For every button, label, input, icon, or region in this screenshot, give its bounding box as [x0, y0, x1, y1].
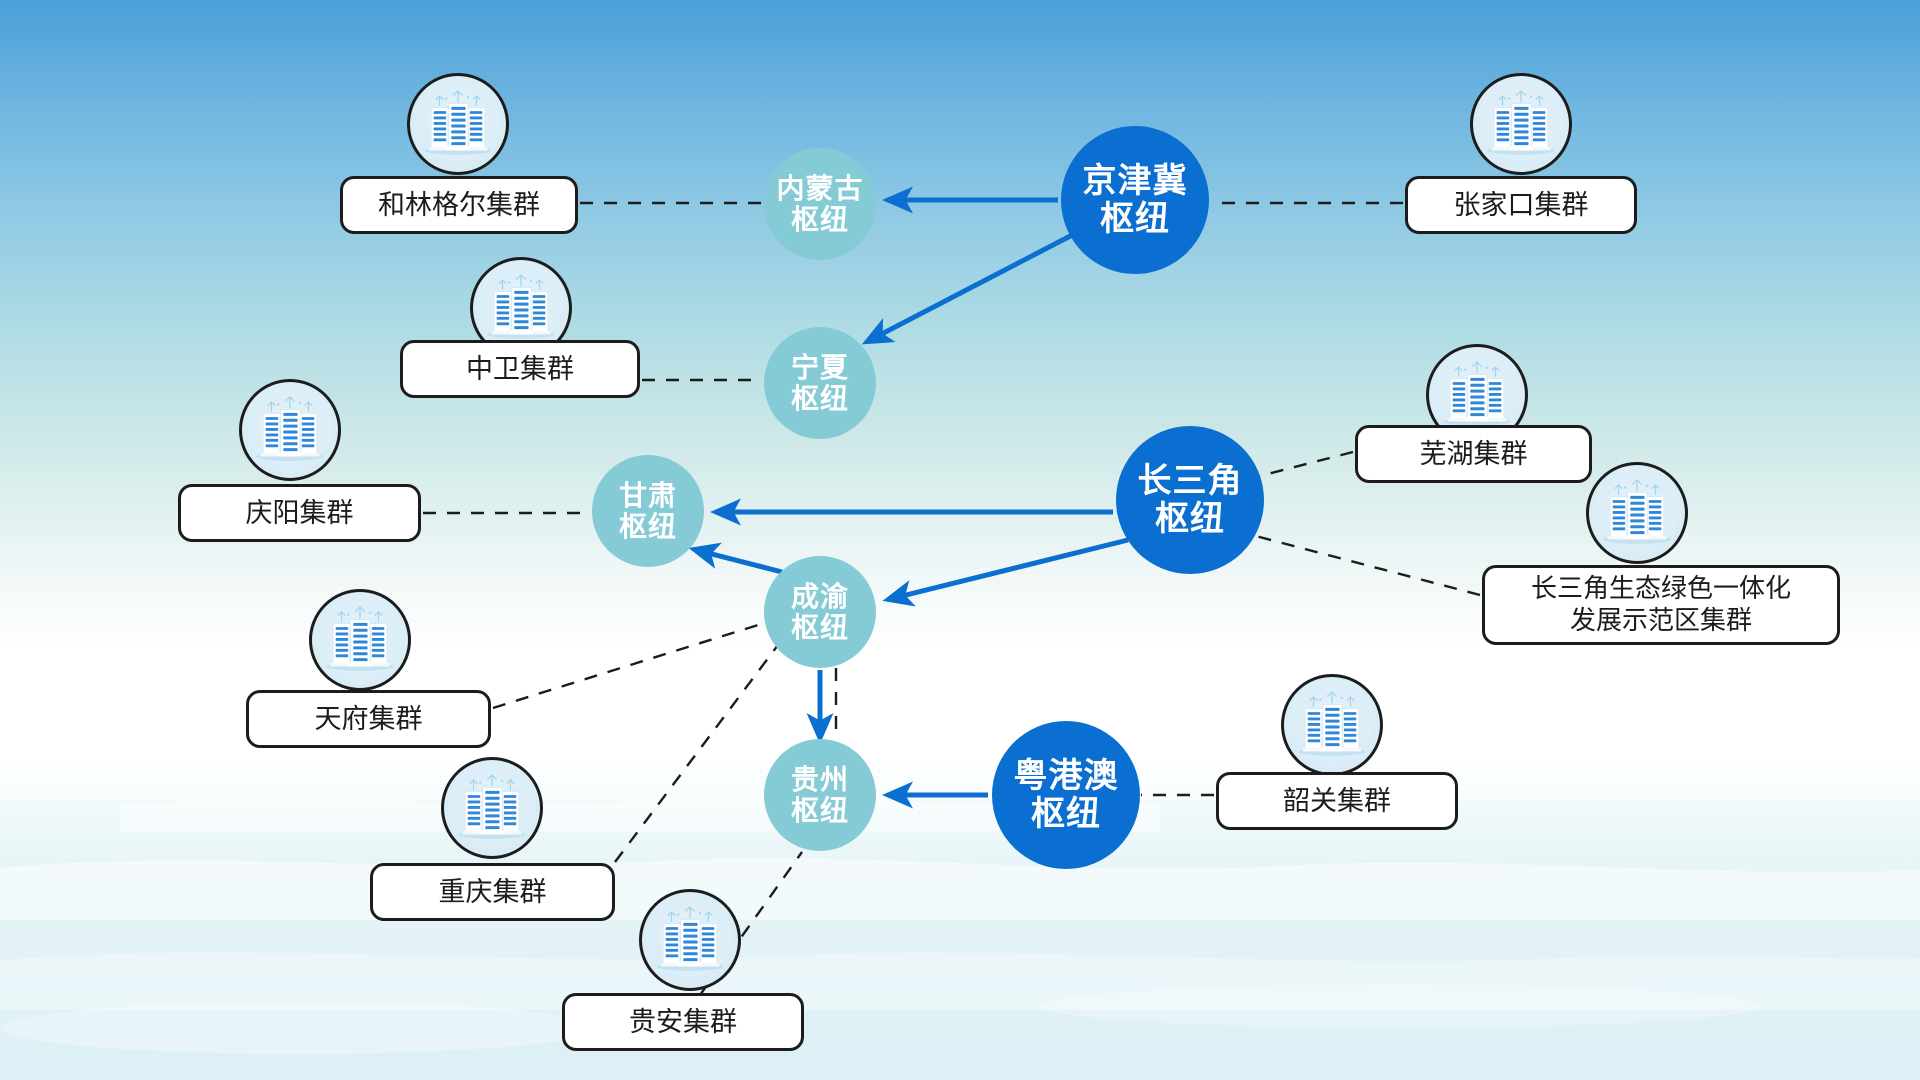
- cluster-label: 张家口集群: [1405, 176, 1637, 234]
- cluster-label: 长三角生态绿色一体化 发展示范区集群: [1482, 565, 1840, 645]
- cluster-icon-bubble: [1281, 674, 1383, 776]
- cluster-icon-wrapper: [416, 80, 500, 164]
- hub-label-line: 枢纽: [791, 204, 849, 235]
- diagram-canvas: 京津冀枢纽长三角枢纽粤港澳枢纽内蒙古枢纽宁夏枢纽甘肃枢纽成渝枢纽贵州枢纽: [0, 0, 1920, 1080]
- cluster-icon-bubble: [639, 889, 741, 991]
- data-center-building-icon: [1595, 469, 1679, 553]
- dashed-link-demozone-changsanjiao: [1248, 534, 1480, 595]
- data-center-building-icon: [318, 596, 402, 680]
- dashed-link-chongqing-chengyu: [615, 645, 778, 862]
- hub-node-yuegangao[interactable]: 粤港澳枢纽: [992, 721, 1140, 869]
- cluster-label: 贵安集群: [562, 993, 804, 1051]
- hub-label-line: 枢纽: [791, 612, 849, 643]
- cluster-label: 和林格尔集群: [340, 176, 578, 234]
- cluster-icon-bubble: [1470, 73, 1572, 175]
- hub-label-line: 枢纽: [791, 383, 849, 414]
- cluster-label: 芜湖集群: [1355, 425, 1592, 483]
- hub-label-line: 枢纽: [1031, 795, 1101, 833]
- hub-node-changsanjiao[interactable]: 长三角枢纽: [1116, 426, 1264, 574]
- arrow-changsanjiao-to-chengyu: [898, 540, 1128, 597]
- data-center-building-icon: [648, 896, 732, 980]
- cluster-label: 庆阳集群: [178, 484, 421, 542]
- cluster-icon-wrapper: [1435, 351, 1519, 435]
- hub-label-line: 甘肃: [619, 480, 677, 511]
- cluster-label: 韶关集群: [1216, 772, 1458, 830]
- arrow-jingjinji-to-ningxia: [876, 232, 1078, 337]
- cluster-icon-wrapper: [1290, 681, 1374, 765]
- data-center-building-icon: [1479, 80, 1563, 164]
- hub-label-line: 长三角: [1138, 462, 1243, 500]
- data-center-building-icon: [248, 386, 332, 470]
- hub-label-line: 粤港澳: [1014, 757, 1119, 795]
- hub-node-jingjinji[interactable]: 京津冀枢纽: [1061, 126, 1209, 274]
- data-center-building-icon: [1435, 351, 1519, 435]
- hub-label-line: 内蒙古: [776, 173, 863, 204]
- cluster-icon-bubble: [441, 757, 543, 859]
- cluster-icon-wrapper: [318, 596, 402, 680]
- hub-node-chengyu[interactable]: 成渝枢纽: [764, 556, 876, 668]
- cluster-icon-wrapper: [1479, 80, 1563, 164]
- dashed-link-tianfu-chengyu: [493, 620, 774, 708]
- cluster-icon-wrapper: [479, 264, 563, 348]
- hub-label-line: 枢纽: [1155, 500, 1225, 538]
- arrow-chengyu-to-gansu: [704, 552, 782, 572]
- cluster-label: 重庆集群: [370, 863, 615, 921]
- cluster-icon-wrapper: [248, 386, 332, 470]
- hub-label-line: 枢纽: [791, 795, 849, 826]
- data-center-building-icon: [479, 264, 563, 348]
- hub-label-line: 枢纽: [1100, 200, 1170, 238]
- hub-label-line: 京津冀: [1083, 162, 1188, 200]
- cluster-label: 天府集群: [246, 690, 491, 748]
- hub-label-line: 成渝: [791, 581, 849, 612]
- hub-label-line: 宁夏: [791, 352, 849, 383]
- hub-node-guizhou[interactable]: 贵州枢纽: [764, 739, 876, 851]
- hub-node-neimenggu[interactable]: 内蒙古枢纽: [764, 148, 876, 260]
- hub-node-gansu[interactable]: 甘肃枢纽: [592, 455, 704, 567]
- hub-label-line: 枢纽: [619, 511, 677, 542]
- cluster-icon-bubble: [309, 589, 411, 691]
- data-center-building-icon: [416, 80, 500, 164]
- data-center-building-icon: [450, 764, 534, 848]
- hub-node-ningxia[interactable]: 宁夏枢纽: [764, 327, 876, 439]
- cluster-label: 中卫集群: [400, 340, 640, 398]
- data-center-building-icon: [1290, 681, 1374, 765]
- cluster-icon-wrapper: [1595, 469, 1679, 553]
- cluster-icon-bubble: [407, 73, 509, 175]
- hub-label-line: 贵州: [791, 764, 849, 795]
- cluster-icon-bubble: [1586, 462, 1688, 564]
- cluster-icon-wrapper: [648, 896, 732, 980]
- cluster-icon-bubble: [239, 379, 341, 481]
- cluster-icon-wrapper: [450, 764, 534, 848]
- dashed-link-wuhu-changsanjiao: [1252, 452, 1353, 478]
